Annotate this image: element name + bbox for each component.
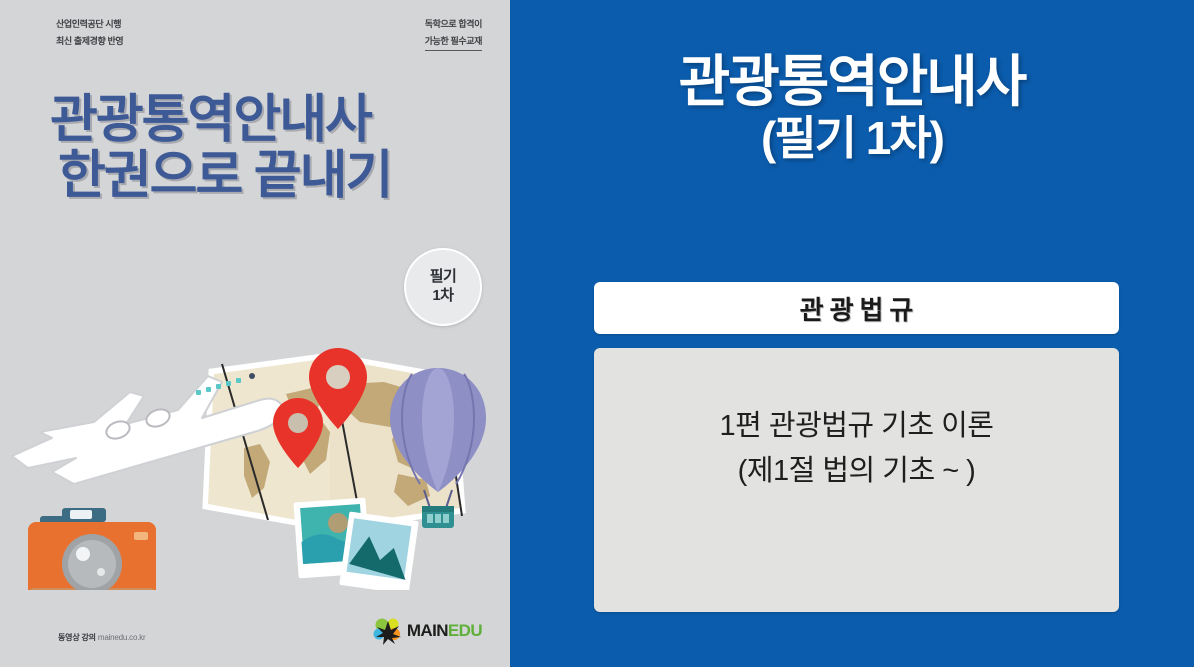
chapter-content-box: 1편 관광법규 기초 이론 (제1절 법의 기초 ~ ) <box>594 348 1119 612</box>
cover-title-line2: 한권으로 끝내기 <box>50 148 480 204</box>
cover-kicker-right-line2: 가능한 필수교재 <box>425 33 482 52</box>
cover-kicker-right: 독학으로 합격이 가능한 필수교재 <box>425 16 482 51</box>
cover-kicker-left-line1: 산업인력공단 시행 <box>56 16 123 33</box>
chapter-content-line2: (제1절 법의 기초 ~ ) <box>594 449 1119 494</box>
cover-title-line1: 관광통역안내사 <box>50 91 371 149</box>
cover-footer-credit: 동영상 강의 mainedu.co.kr <box>58 632 146 643</box>
subject-title: 관광법규 <box>794 290 920 327</box>
subject-header-box: 관광법규 <box>594 282 1119 334</box>
photo-print-illustration <box>339 511 419 590</box>
cover-badge-line1: 필기 <box>430 268 457 287</box>
chapter-content-text: 1편 관광법규 기초 이론 (제1절 법의 기초 ~ ) <box>594 404 1119 494</box>
mainedu-logo: MAINEDU <box>373 617 482 645</box>
cover-kicker-left: 산업인력공단 시행 최신 출제경향 반영 <box>56 16 123 49</box>
logo-edu-text: EDU <box>448 621 482 640</box>
cover-title: 관광통역안내사 한권으로 끝내기 <box>50 92 480 204</box>
cover-footer-site: mainedu.co.kr <box>98 633 146 642</box>
logo-main-text: MAIN <box>407 621 448 640</box>
slide-title-line1: 관광통역안내사 <box>510 52 1194 112</box>
mainedu-logo-text: MAINEDU <box>407 621 482 641</box>
travel-illustration <box>0 320 510 590</box>
tree-logo-icon <box>373 617 403 645</box>
presentation-slide: 산업인력공단 시행 최신 출제경향 반영 독학으로 합격이 가능한 필수교재 관… <box>0 0 1194 667</box>
cover-footer-lecture-label: 동영상 강의 <box>58 633 96 642</box>
slide-content-panel: 관광통역안내사 (필기 1차) 관광법규 1편 관광법규 기초 이론 (제1절 … <box>510 0 1194 667</box>
slide-title: 관광통역안내사 (필기 1차) <box>510 52 1194 164</box>
chapter-content-line1: 1편 관광법규 기초 이론 <box>594 404 1119 449</box>
cover-kicker-right-line1: 독학으로 합격이 <box>425 16 482 33</box>
camera-illustration <box>28 508 156 590</box>
slide-title-line2: (필기 1차) <box>510 114 1194 164</box>
cover-badge-line2: 1차 <box>432 287 453 306</box>
cover-exam-badge: 필기 1차 <box>404 248 482 326</box>
cover-kicker-left-line2: 최신 출제경향 반영 <box>56 33 123 50</box>
book-cover-image: 산업인력공단 시행 최신 출제경향 반영 독학으로 합격이 가능한 필수교재 관… <box>0 0 510 667</box>
